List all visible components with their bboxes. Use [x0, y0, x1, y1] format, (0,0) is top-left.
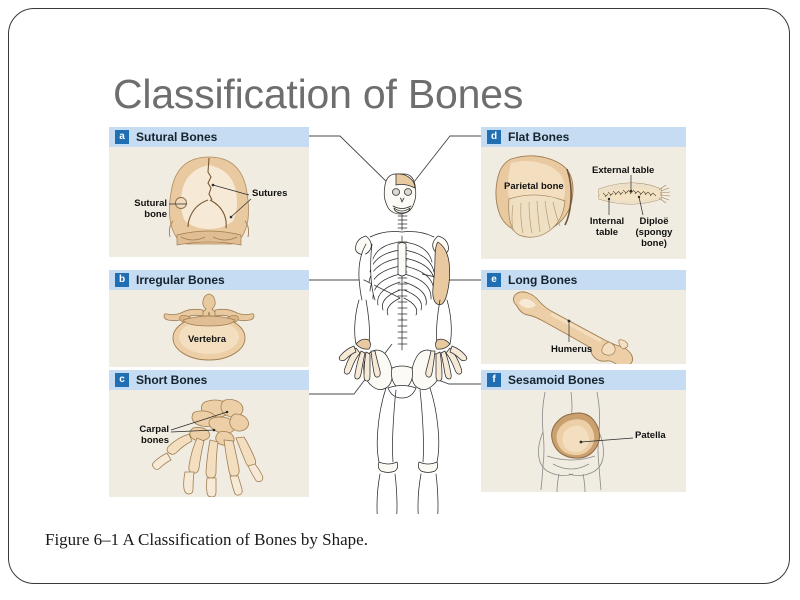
orbit-right	[404, 189, 411, 196]
figure-classification-of-bones: a Sutural Bones	[104, 122, 704, 514]
carpal-bones-label: Carpal bones	[123, 424, 169, 446]
sutures-label: Sutures	[252, 188, 287, 199]
ulna-left	[366, 300, 370, 344]
panel-b-body: Vertebra	[109, 290, 309, 367]
skeleton-figure	[339, 174, 467, 514]
leader-a	[309, 136, 392, 187]
cervical-vertebrae	[398, 216, 407, 228]
panel-sutural-bones[interactable]: a Sutural Bones	[109, 127, 309, 257]
panel-e-badge: e	[487, 273, 501, 287]
panel-f-body: Patella	[481, 390, 686, 492]
panel-c-badge: c	[115, 373, 129, 387]
leader-e	[422, 274, 481, 280]
tibia-left	[377, 474, 380, 514]
clavicle-right	[402, 232, 434, 237]
internal-table-label: Internal table	[586, 216, 628, 238]
femur-left-outer	[377, 388, 386, 462]
panel-c-header: c Short Bones	[109, 370, 309, 390]
patella-left	[378, 462, 397, 473]
panel-d-title: Flat Bones	[508, 130, 569, 144]
carpals-right	[436, 339, 451, 349]
panel-b-header: b Irregular Bones	[109, 270, 309, 290]
patella-label: Patella	[635, 430, 666, 441]
panel-sesamoid-bones[interactable]: f Sesamoid Bones	[481, 370, 686, 492]
rib-cage	[369, 236, 435, 320]
fibula-right	[436, 474, 438, 514]
pubis	[388, 386, 416, 399]
panel-e-body: Humerus	[481, 290, 686, 364]
clavicle-left	[370, 232, 402, 237]
panel-d-header: d Flat Bones	[481, 127, 686, 147]
tibia-right	[418, 474, 421, 514]
panel-e-title: Long Bones	[508, 273, 577, 287]
panel-b-title: Irregular Bones	[136, 273, 225, 287]
external-table-label: External table	[592, 165, 654, 176]
panel-e-header: e Long Bones	[481, 270, 686, 290]
panel-d-body: Parietal bone External table Internal ta…	[481, 147, 686, 259]
panel-a-header: a Sutural Bones	[109, 127, 309, 147]
panel-f-badge: f	[487, 373, 501, 387]
femur-right-inner	[420, 390, 424, 462]
page-title: Classification of Bones	[113, 71, 523, 118]
diploe-label: Diploë (spongy bone)	[631, 216, 677, 249]
femur-right-outer	[430, 388, 439, 462]
panel-c-body: Carpal bones	[109, 390, 309, 497]
radius-left	[355, 300, 359, 344]
panel-long-bones[interactable]: e Long Bones Humerus	[481, 270, 686, 364]
panel-a-title: Sutural Bones	[136, 130, 217, 144]
panel-f-title: Sesamoid Bones	[508, 373, 605, 387]
slide-canvas: Classification of Bones	[8, 8, 790, 584]
panel-flat-bones[interactable]: d Flat Bones	[481, 127, 686, 259]
figure-caption: Figure 6–1 A Classification of Bones by …	[45, 530, 368, 550]
ulna-right	[437, 300, 441, 344]
carpals-left	[356, 339, 371, 349]
patella-right	[418, 462, 437, 473]
metacarpals	[167, 434, 256, 478]
humerus-label: Humerus	[551, 344, 592, 355]
fibula-left	[395, 474, 397, 514]
knee-patella-illustration	[481, 390, 686, 492]
panel-f-header: f Sesamoid Bones	[481, 370, 686, 390]
leader-b	[309, 280, 400, 298]
panel-c-title: Short Bones	[136, 373, 207, 387]
femur-left-inner	[393, 390, 397, 462]
panel-a-badge: a	[115, 130, 129, 144]
radius-right	[447, 300, 451, 344]
leader-d	[410, 136, 481, 187]
panel-d-badge: d	[487, 130, 501, 144]
parietal-bone-label: Parietal bone	[504, 181, 564, 192]
sutural-bone-label: Sutural bone	[121, 198, 167, 220]
panel-irregular-bones[interactable]: b Irregular Bones Vertebra	[109, 270, 309, 367]
panel-short-bones[interactable]: c Short Bones	[109, 370, 309, 497]
vertebra-illustration	[109, 290, 309, 367]
orbit-left	[392, 189, 399, 196]
panel-a-body: Sutures Sutural bone	[109, 147, 309, 257]
lumbar-spine	[398, 318, 407, 350]
panel-b-badge: b	[115, 273, 129, 287]
vertebra-label: Vertebra	[188, 334, 226, 345]
